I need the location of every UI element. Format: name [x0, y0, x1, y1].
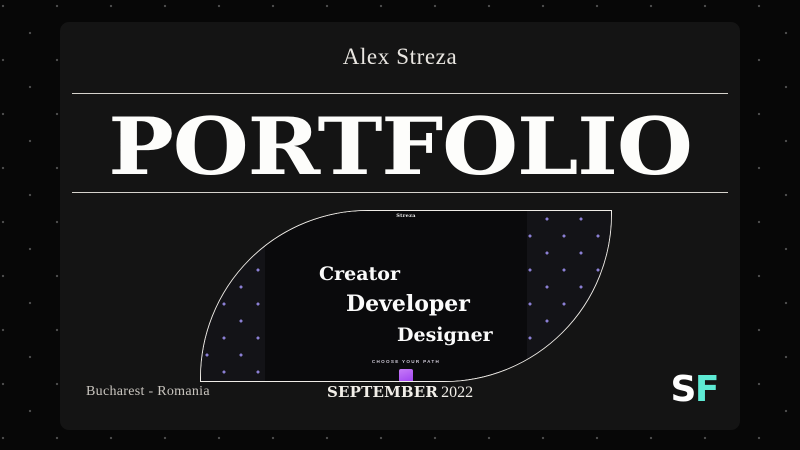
page-title: PORTFOLIO — [60, 102, 740, 193]
brand-letter-f: F — [695, 369, 718, 410]
date-month: SEPTEMBER — [327, 383, 438, 401]
preview-hero-line-developer: Developer — [346, 291, 470, 317]
brand-letter-s: S — [670, 369, 694, 410]
portfolio-preview[interactable]: Streza Creator Developer Designer CHOOSE… — [200, 210, 612, 382]
leaf-frame: Streza Creator Developer Designer CHOOSE… — [200, 210, 612, 382]
brand-logo-sf[interactable]: SF — [670, 372, 718, 408]
author-name: Alex Streza — [60, 44, 740, 70]
divider-bottom — [72, 192, 728, 193]
preview-hero-line-creator: Creator — [319, 263, 400, 285]
date-label: SEPTEMBER2022 — [60, 383, 740, 402]
divider-top — [72, 93, 728, 94]
preview-cta-chip — [399, 369, 413, 382]
preview-cta-label: CHOOSE YOUR PATH — [201, 359, 611, 364]
slide-card: Alex Streza PORTFOLIO Streza Creator Dev… — [60, 22, 740, 430]
slide-canvas: Alex Streza PORTFOLIO Streza Creator Dev… — [0, 0, 800, 450]
date-year: 2022 — [441, 384, 473, 401]
preview-hero-line-designer: Designer — [397, 324, 493, 346]
preview-site-logo: Streza — [201, 213, 611, 219]
